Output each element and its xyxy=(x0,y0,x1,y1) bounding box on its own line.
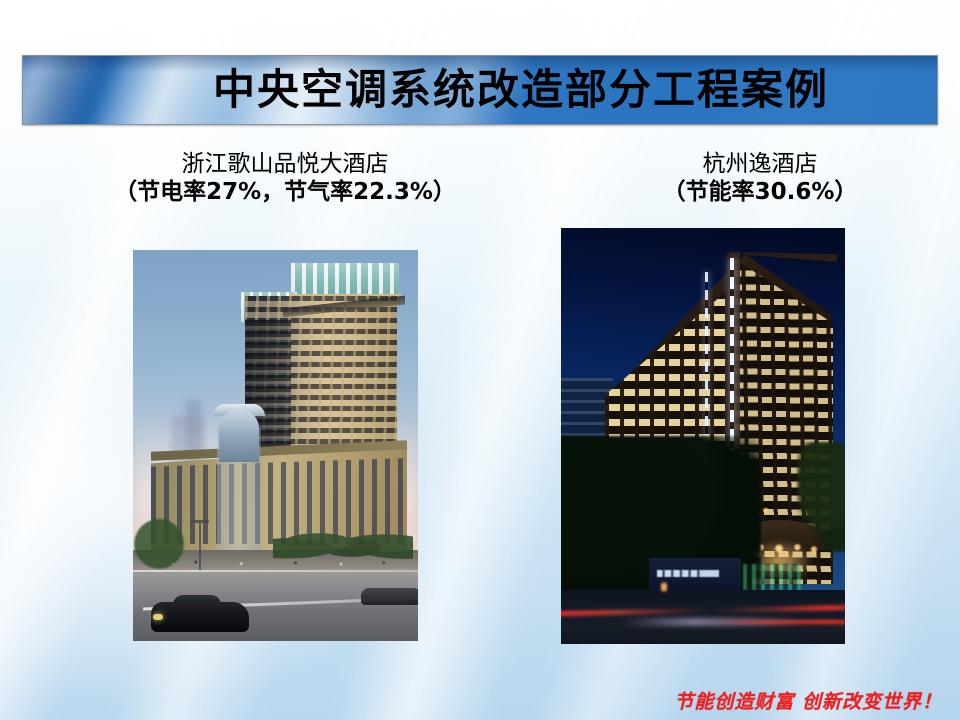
footer-slogan: 节能创造财富 创新改变世界！ xyxy=(674,687,942,714)
photo-right-hotel xyxy=(561,228,845,644)
page-title: 中央空调系统改造部分工程案例 xyxy=(23,56,937,124)
tower-crown-main xyxy=(291,263,399,298)
crown-fins xyxy=(291,263,399,298)
caption-right: 杭州逸酒店 （节能率30.6%） xyxy=(600,150,920,206)
entry-glass-bay xyxy=(219,410,259,462)
car-taillight xyxy=(153,614,163,620)
case-name-right: 杭州逸酒店 xyxy=(600,150,920,178)
photo-right-content xyxy=(561,228,845,644)
car-background xyxy=(361,588,418,605)
street-tree-left xyxy=(133,512,191,570)
case-metrics-left: （节电率27%，节气率22.3%） xyxy=(105,178,465,206)
lit-hedge xyxy=(743,564,801,590)
street-trees xyxy=(273,522,413,566)
slide-root: 中央空调系统改造部分工程案例 浙江歌山品悦大酒店 （节电率27%，节气率22.3… xyxy=(0,0,960,720)
street-lamp-arm xyxy=(191,520,209,523)
photo-left-content xyxy=(133,250,418,641)
night-road xyxy=(561,590,845,644)
caption-left: 浙江歌山品悦大酒店 （节电率27%，节气率22.3%） xyxy=(105,150,465,206)
street-light-glow xyxy=(661,580,667,594)
tree-right xyxy=(797,442,845,552)
photo-left-hotel xyxy=(133,250,418,641)
case-name-left: 浙江歌山品悦大酒店 xyxy=(105,150,465,178)
light-trail-red-secondary xyxy=(711,620,845,624)
title-banner: 中央空调系统改造部分工程案例 xyxy=(22,55,938,125)
car-foreground xyxy=(151,602,249,632)
hotel-sign-lettering xyxy=(657,570,719,577)
case-metrics-right: （节能率30.6%） xyxy=(600,178,920,206)
